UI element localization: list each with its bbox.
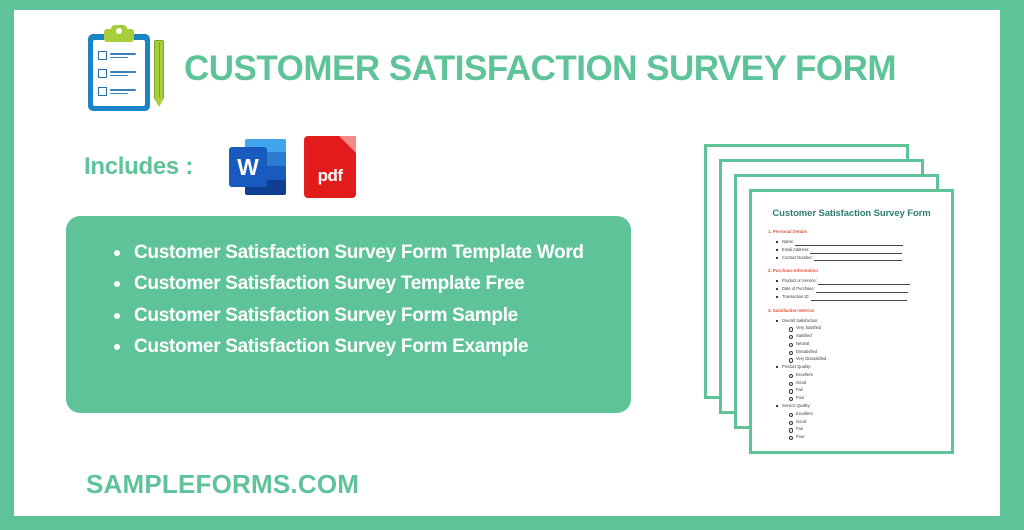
- document-section-heading: 1. Personal Details: [768, 229, 937, 234]
- word-file-icon[interactable]: W: [229, 137, 286, 197]
- document-metric-option[interactable]: Satisfied: [766, 332, 937, 340]
- poster-header: CUSTOMER SATISFACTION SURVEY FORM: [86, 25, 896, 113]
- document-metric-option[interactable]: Excellent: [766, 410, 937, 418]
- document-metric-option[interactable]: Good: [766, 379, 937, 387]
- document-preview-stack: Customer Satisfaction Survey Form 1. Per…: [704, 144, 954, 454]
- document-field-label: Date of Purchase:: [782, 286, 815, 291]
- template-list: Customer Satisfaction Survey Form Templa…: [112, 238, 605, 362]
- document-metric-label: Overall Satisfaction:: [766, 317, 937, 325]
- document-metric-option[interactable]: Poor: [766, 394, 937, 402]
- document-field: Product or Service:: [766, 277, 937, 285]
- list-item[interactable]: Customer Satisfaction Survey Form Templa…: [112, 238, 605, 267]
- document-preview-page[interactable]: Customer Satisfaction Survey Form 1. Per…: [749, 189, 954, 454]
- document-field: Date of Purchase:: [766, 285, 937, 293]
- site-brand[interactable]: SAMPLEFORMS.COM: [86, 469, 359, 500]
- includes-row: Includes : W pdf: [84, 136, 356, 198]
- document-metric-option[interactable]: Fair: [766, 425, 937, 433]
- document-title: Customer Satisfaction Survey Form: [766, 208, 937, 219]
- document-field-label: Email Address:: [782, 247, 809, 252]
- fill-line: [811, 297, 907, 301]
- document-metric-option[interactable]: Poor: [766, 433, 937, 441]
- document-metric-option[interactable]: Dissatisfied: [766, 348, 937, 356]
- list-item[interactable]: Customer Satisfaction Survey Form Sample: [112, 301, 605, 330]
- document-metric-option[interactable]: Very Satisfied: [766, 324, 937, 332]
- document-field-label: Name:: [782, 239, 794, 244]
- list-item[interactable]: Customer Satisfaction Survey Form Exampl…: [112, 332, 605, 361]
- document-metric-option[interactable]: Fair: [766, 386, 937, 394]
- document-field: Email Address:: [766, 246, 937, 254]
- document-field-label: Product or Service:: [782, 278, 817, 283]
- poster-canvas: CUSTOMER SATISFACTION SURVEY FORM Includ…: [14, 10, 1000, 516]
- page-title: CUSTOMER SATISFACTION SURVEY FORM: [184, 49, 896, 89]
- list-item[interactable]: Customer Satisfaction Survey Template Fr…: [112, 269, 605, 298]
- document-metric-option[interactable]: Neutral: [766, 340, 937, 348]
- includes-label: Includes :: [84, 153, 193, 181]
- document-field: Transaction ID:: [766, 293, 937, 301]
- document-field: Contact Number:: [766, 254, 937, 262]
- pdf-file-icon[interactable]: pdf: [304, 136, 356, 198]
- document-divider: [772, 451, 931, 452]
- document-section-heading: 3. Satisfaction Metrics: [768, 308, 937, 313]
- clipboard-checklist-icon: [86, 25, 170, 113]
- document-field-label: Transaction ID:: [782, 294, 810, 299]
- pdf-icon-label: pdf: [304, 166, 356, 186]
- document-metric-option[interactable]: Good: [766, 418, 937, 426]
- document-metric-label: Service Quality:: [766, 402, 937, 410]
- document-metric-option[interactable]: Very Dissatisfied: [766, 355, 937, 363]
- document-field-label: Contact Number:: [782, 255, 813, 260]
- word-icon-letter: W: [237, 156, 259, 179]
- document-metric-option[interactable]: Excellent: [766, 371, 937, 379]
- document-field: Name:: [766, 238, 937, 246]
- document-metric-label: Product Quality:: [766, 363, 937, 371]
- template-list-card: Customer Satisfaction Survey Form Templa…: [66, 216, 631, 413]
- document-section-heading: 2. Purchase Information: [768, 268, 937, 273]
- fill-line: [814, 257, 902, 261]
